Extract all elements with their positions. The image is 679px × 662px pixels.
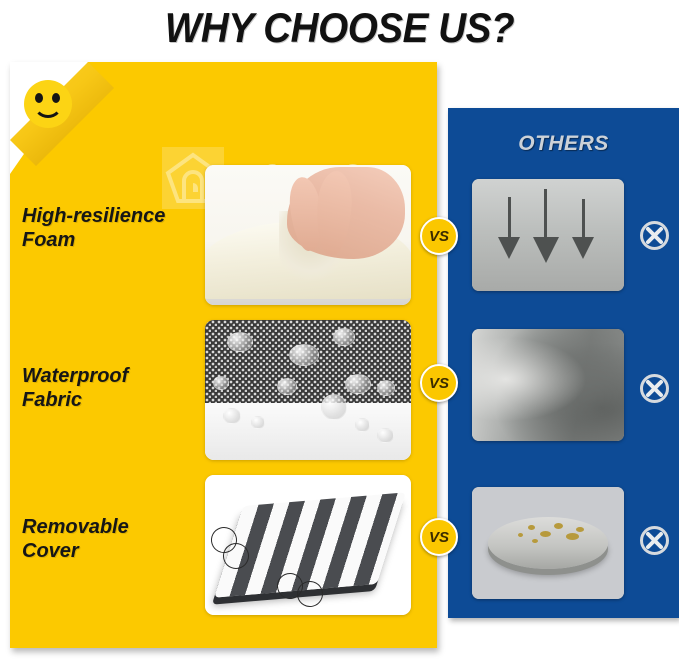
arrow-stem [544, 189, 547, 241]
stain-crumb [532, 539, 538, 543]
water-droplet [333, 328, 355, 346]
dirty-cushion-art [472, 487, 624, 599]
vs-badge: VS [420, 217, 458, 255]
feature-label-foam: High-resilience Foam [22, 205, 200, 252]
water-droplet [213, 376, 229, 390]
feature-label-fabric-line2: Fabric [22, 389, 200, 413]
smiley-mouth [33, 98, 63, 118]
arrow-stem [582, 199, 585, 241]
infographic-canvas: WHY CHOOSE US? OTHERS OURS High-resilien… [0, 0, 679, 662]
vs-badge: VS [420, 518, 458, 556]
stain-crumb [576, 527, 584, 532]
fabric-photo-art [205, 320, 411, 460]
stain-crumb [518, 533, 523, 537]
water-droplet [355, 418, 370, 432]
feature-label-cover: Removable Cover [22, 516, 200, 563]
sinking-foam-arrows-photo [472, 179, 624, 291]
water-beading-fabric-photo [205, 320, 411, 460]
water-droplet [277, 378, 297, 395]
round-cushion [488, 517, 608, 569]
arrow-head [498, 237, 520, 259]
water-droplet [321, 394, 347, 420]
others-panel-title: OTHERS [448, 132, 679, 156]
page-title: WHY CHOOSE US? [27, 0, 652, 56]
smiley-face-icon [24, 80, 72, 128]
water-droplet [251, 416, 265, 429]
water-droplet [289, 344, 319, 366]
water-droplet [345, 374, 371, 394]
feature-label-fabric: Waterproof Fabric [22, 365, 200, 412]
x-circle-icon [638, 524, 671, 557]
water-droplet [223, 408, 241, 424]
arrows-photo-art [472, 179, 624, 291]
foam-photo-art [205, 165, 411, 305]
arrow-head [533, 237, 559, 263]
water-droplet [227, 332, 253, 352]
stain-crumb [554, 523, 563, 529]
x-circle-icon [638, 372, 671, 405]
arrow-head [572, 237, 594, 259]
wet-stained-fabric-photo [472, 329, 624, 441]
striped-cushion-cover-photo [205, 475, 411, 615]
feature-label-cover-line2: Cover [22, 540, 200, 564]
feature-label-fabric-line1: Waterproof [22, 365, 200, 389]
arrow-stem [508, 197, 511, 241]
vs-badge: VS [420, 364, 458, 402]
hand-pressing-foam-photo [205, 165, 411, 305]
feature-label-foam-line2: Foam [22, 229, 200, 253]
dirty-round-cushion-photo [472, 487, 624, 599]
feature-label-cover-line1: Removable [22, 516, 200, 540]
stain-crumb [528, 525, 535, 530]
water-droplet [377, 428, 394, 443]
cushion-photo-art [205, 475, 411, 615]
water-droplet [377, 380, 395, 396]
stain-crumb [540, 531, 551, 537]
stain-crumb [566, 533, 579, 540]
stained-fabric-art [472, 329, 624, 441]
x-circle-icon [638, 219, 671, 252]
feature-label-foam-line1: High-resilience [22, 205, 200, 229]
